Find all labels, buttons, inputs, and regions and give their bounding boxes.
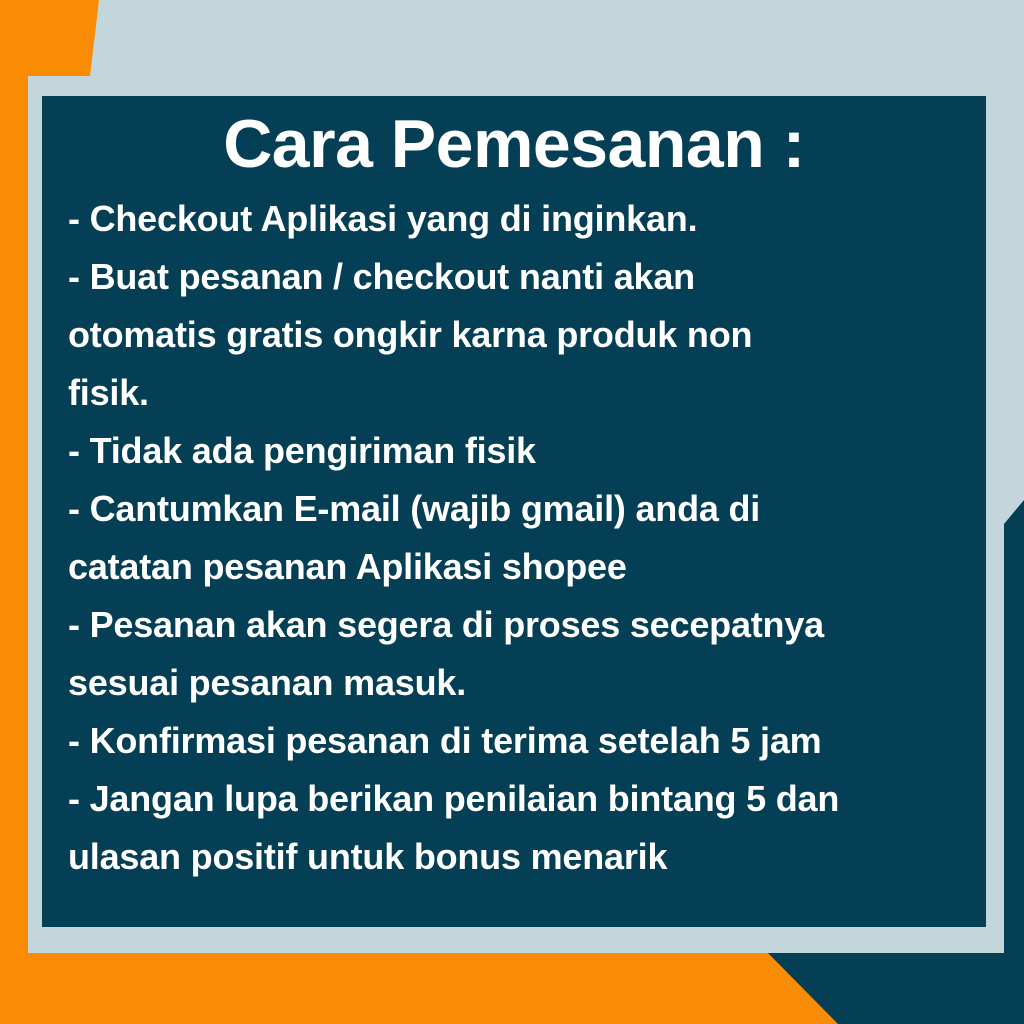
list-item: ulasan positif untuk bonus menarik <box>68 828 964 886</box>
list-item: sesuai pesanan masuk. <box>68 654 964 712</box>
list-item: - Cantumkan E-mail (wajib gmail) anda di <box>68 480 964 538</box>
list-item: - Checkout Aplikasi yang di inginkan. <box>68 190 964 248</box>
list-item: fisik. <box>68 364 964 422</box>
orange-left-strip-decoration <box>0 0 28 954</box>
navy-right-edge-sliver-decoration <box>1004 500 1024 954</box>
instructions-panel: Cara Pemesanan : - Checkout Aplikasi yan… <box>42 96 986 927</box>
orange-top-left-tab-decoration <box>0 0 100 76</box>
list-item: - Konfirmasi pesanan di terima setelah 5… <box>68 712 964 770</box>
page-title: Cara Pemesanan : <box>42 96 986 178</box>
instruction-list: - Checkout Aplikasi yang di inginkan. - … <box>42 178 986 886</box>
list-item: - Buat pesanan / checkout nanti akan <box>68 248 964 306</box>
promotional-poster: Cara Pemesanan : - Checkout Aplikasi yan… <box>0 0 1024 1024</box>
list-item: - Tidak ada pengiriman fisik <box>68 422 964 480</box>
list-item: - Jangan lupa berikan penilaian bintang … <box>68 770 964 828</box>
list-item: otomatis gratis ongkir karna produk non <box>68 306 964 364</box>
list-item: - Pesanan akan segera di proses secepatn… <box>68 596 964 654</box>
list-item: catatan pesanan Aplikasi shopee <box>68 538 964 596</box>
